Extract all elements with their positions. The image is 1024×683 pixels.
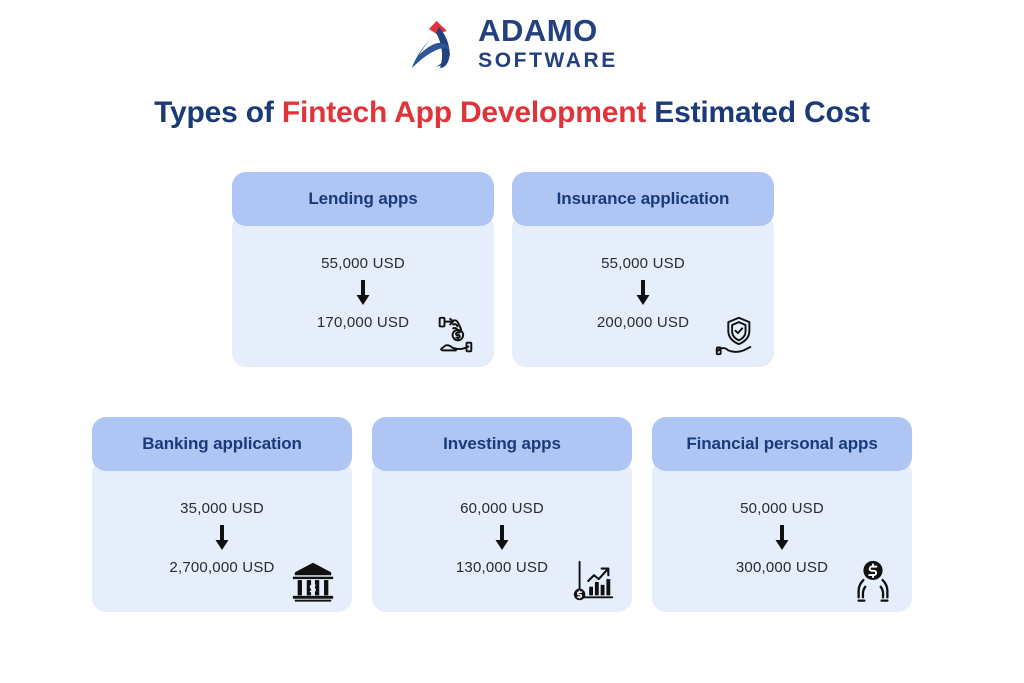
cost-to: 130,000 USD bbox=[456, 559, 548, 576]
page-title-part2: Fintech App Development bbox=[282, 96, 646, 129]
card-title: Lending apps bbox=[308, 189, 417, 209]
card-header: Banking application bbox=[92, 417, 352, 471]
cost-from: 35,000 USD bbox=[180, 500, 264, 517]
card-header: Lending apps bbox=[232, 172, 494, 226]
card-header: Financial personal apps bbox=[652, 417, 912, 471]
card-title: Banking application bbox=[142, 434, 302, 454]
hands-holding-coin-icon bbox=[850, 558, 896, 604]
cost-card-banking-application[interactable]: Banking application 35,000 USD 2,700,000… bbox=[92, 417, 352, 612]
growth-chart-dollar-icon bbox=[570, 558, 616, 604]
page-title: Types of Fintech App Development Estimat… bbox=[0, 96, 1024, 130]
cost-to: 200,000 USD bbox=[597, 314, 689, 331]
cost-from: 55,000 USD bbox=[601, 255, 685, 272]
card-body: 50,000 USD 300,000 USD bbox=[652, 459, 912, 612]
card-body: 55,000 USD 200,000 USD bbox=[512, 214, 774, 367]
card-body: 55,000 USD 170,000 USD bbox=[232, 214, 494, 367]
cost-to: 2,700,000 USD bbox=[169, 559, 274, 576]
page-title-part3: Estimated Cost bbox=[646, 96, 870, 129]
card-body: 35,000 USD 2,700,000 USD bbox=[92, 459, 352, 612]
cost-from: 55,000 USD bbox=[321, 255, 405, 272]
down-arrow-icon bbox=[494, 525, 510, 551]
cost-from: 60,000 USD bbox=[460, 500, 544, 517]
cost-card-financial-personal-apps[interactable]: Financial personal apps 50,000 USD 300,0… bbox=[652, 417, 912, 612]
down-arrow-icon bbox=[774, 525, 790, 551]
card-title: Investing apps bbox=[443, 434, 561, 454]
bank-building-icon bbox=[290, 558, 336, 604]
card-body: 60,000 USD 130,000 USD bbox=[372, 459, 632, 612]
cost-card-lending-apps[interactable]: Lending apps 55,000 USD 170,000 USD bbox=[232, 172, 494, 367]
money-lending-hands-icon bbox=[432, 313, 478, 359]
brand-name-line1: ADAMO bbox=[478, 15, 618, 46]
page-title-part1: Types of bbox=[154, 96, 282, 129]
down-arrow-icon bbox=[635, 280, 651, 306]
down-arrow-icon bbox=[214, 525, 230, 551]
brand-name-line2: SOFTWARE bbox=[478, 50, 618, 71]
adamo-swoosh-logo-icon bbox=[406, 13, 466, 73]
shield-on-hand-icon bbox=[712, 313, 758, 359]
cost-to: 300,000 USD bbox=[736, 559, 828, 576]
cost-card-investing-apps[interactable]: Investing apps 60,000 USD 130,000 USD bbox=[372, 417, 632, 612]
cost-from: 50,000 USD bbox=[740, 500, 824, 517]
cost-to: 170,000 USD bbox=[317, 314, 409, 331]
card-title: Insurance application bbox=[557, 189, 730, 209]
card-header: Insurance application bbox=[512, 172, 774, 226]
cost-card-insurance-application[interactable]: Insurance application 55,000 USD 200,000… bbox=[512, 172, 774, 367]
down-arrow-icon bbox=[355, 280, 371, 306]
card-header: Investing apps bbox=[372, 417, 632, 471]
brand-wordmark: ADAMO SOFTWARE bbox=[478, 15, 618, 71]
card-title: Financial personal apps bbox=[686, 434, 877, 454]
brand-logo: ADAMO SOFTWARE bbox=[0, 12, 1024, 74]
